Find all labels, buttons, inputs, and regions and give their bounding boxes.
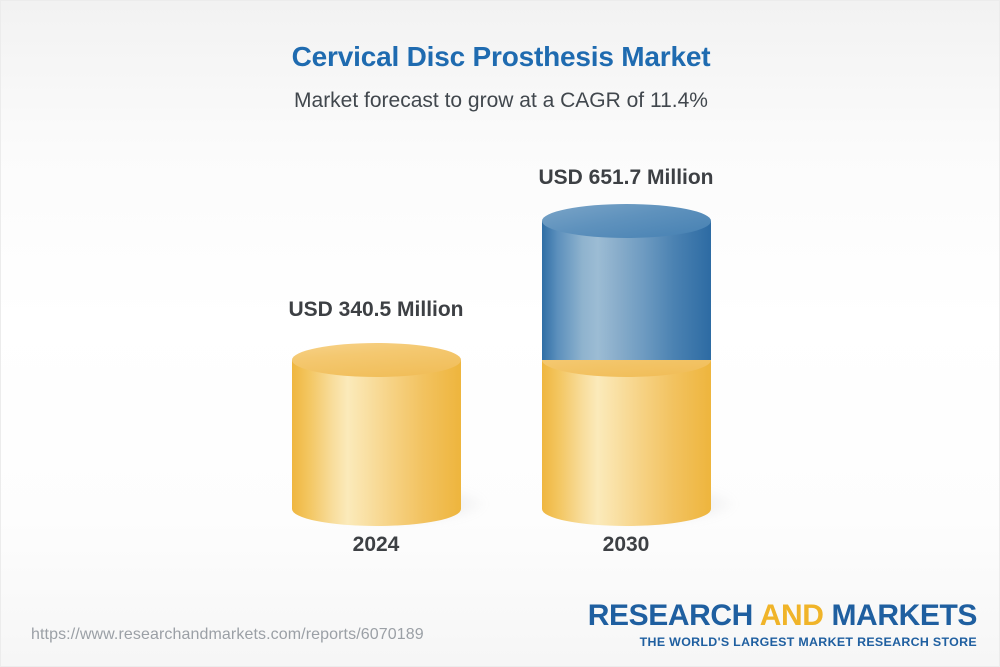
bar-top-cap-2024	[292, 343, 461, 377]
source-url-link[interactable]: https://www.researchandmarkets.com/repor…	[31, 626, 424, 644]
brand-wordmark: RESEARCH AND MARKETS	[588, 601, 977, 631]
brand-logo: RESEARCH AND MARKETS THE WORLD'S LARGEST…	[588, 601, 977, 648]
bar-segment-upper-2030	[542, 221, 711, 360]
chart-plot-area: USD 340.5 Million 2024 USD 651.7 Million	[1, 1, 1000, 601]
bar-body-2024	[292, 360, 461, 509]
value-label-2030: USD 651.7 Million	[456, 166, 796, 190]
brand-word-markets: MARKETS	[831, 599, 977, 632]
brand-word-and: AND	[760, 599, 832, 632]
infographic-canvas: Cervical Disc Prosthesis Market Market f…	[0, 0, 1000, 667]
category-label-2030: 2030	[456, 533, 796, 557]
bar-top-cap-2030	[542, 204, 711, 238]
brand-tagline: THE WORLD'S LARGEST MARKET RESEARCH STOR…	[588, 636, 977, 648]
brand-word-research: RESEARCH	[588, 599, 760, 632]
bar-segment-lower-2030	[542, 360, 711, 509]
value-label-2024: USD 340.5 Million	[206, 298, 546, 322]
